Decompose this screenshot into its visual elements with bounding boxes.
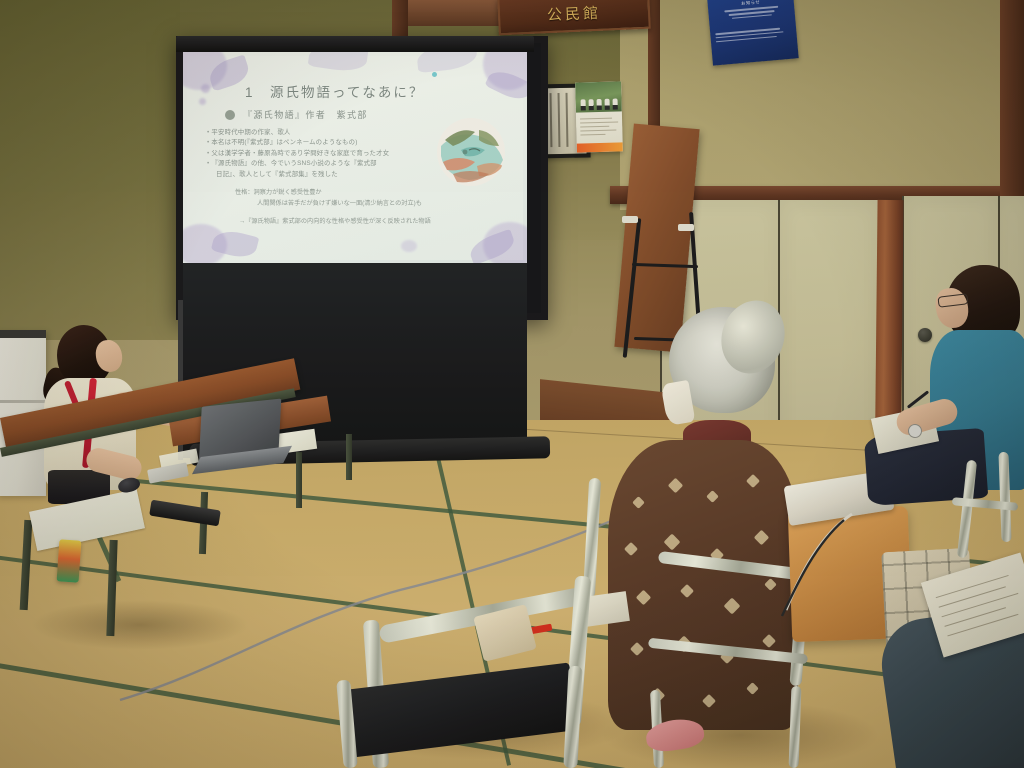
stand-clip — [622, 216, 638, 223]
slide-note-line: 性格：洞察力が鋭く感受性豊か — [235, 188, 485, 199]
slide-conclusion: →『源氏物語』紫式部の内向的な性格や感受性が深く反映された物語 — [239, 216, 431, 225]
snack-bag — [57, 539, 82, 582]
slide-note-line: 人間関係は苦手だが負けず嫌いな一面(清少納言との対立)も — [235, 199, 485, 210]
slide-bullet: 父は漢学学者・藤原為時であり学問好きな家庭で育った才女 — [207, 149, 447, 159]
upper-left-wall — [0, 0, 180, 340]
fusuma-pull-2[interactable] — [918, 328, 932, 342]
table-leg — [346, 434, 352, 480]
presentation-slide: 1 源氏物語ってなあに？ 『源氏物語』作者 紫式部 平安時代中期の作家、歌人 本… — [183, 52, 527, 264]
slide-bullet-list: 平安時代中期の作家、歌人 本名は不明(『紫式部』はペンネームのようなもの) 父は… — [207, 128, 447, 180]
slide-accent-dot — [432, 72, 437, 77]
slide-title: 1 源氏物語ってなあに？ — [245, 81, 424, 101]
slide-bullet: 平安時代中期の作家、歌人 — [207, 128, 447, 138]
genji-scroll-illustration — [435, 116, 507, 188]
cabinet-door-split — [0, 400, 46, 403]
slide-subheading-row: 『源氏物語』作者 紫式部 — [225, 108, 368, 121]
presentation-room-scene: 公民館 お知らせ — [0, 0, 1024, 768]
blue-notice: お知らせ — [707, 0, 798, 66]
wood-sign-text: 公民館 — [547, 1, 602, 24]
projector-cables — [752, 500, 872, 620]
stand-clip — [678, 224, 694, 231]
screen-top-roller — [176, 36, 534, 52]
slide-bullet-continuation: 日記』、歌人として『紫式部集』を残した — [207, 170, 447, 180]
table-leg — [296, 452, 302, 508]
wood-pillar-far-right — [1000, 0, 1024, 200]
bullet-marker-icon — [225, 110, 235, 120]
calendar-footer-bar — [577, 142, 623, 152]
slide-bullet: 本名は不明(『紫式部』はペンネームのようなもの) — [207, 138, 447, 148]
calendar-photo — [575, 81, 622, 112]
cabinet-top-trim — [0, 330, 46, 338]
wall-calendar — [575, 81, 623, 152]
slide-notes: 性格：洞察力が鋭く感受性豊か 人間関係は苦手だが負けず嫌いな一面(清少納言との対… — [235, 188, 485, 209]
slide-subheading: 『源氏物語』作者 紫式部 — [243, 108, 368, 121]
slide-bullet: 『源氏物語』の他、今でいうSNS小説のような『紫式部 — [207, 159, 447, 169]
